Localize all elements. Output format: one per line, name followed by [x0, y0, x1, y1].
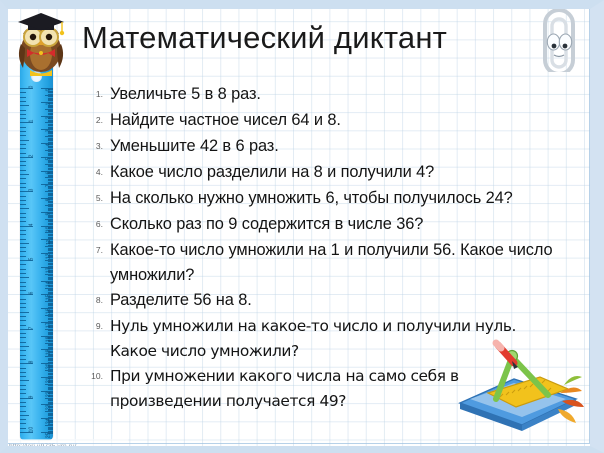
ruler-tick — [20, 290, 26, 291]
ruler-tick — [20, 200, 26, 201]
ruler-tick — [20, 368, 26, 369]
ruler-inch-label: 7 — [30, 326, 35, 329]
ruler-tick — [20, 251, 26, 252]
ruler-tick — [20, 204, 26, 205]
ruler-tick — [20, 247, 26, 248]
ruler-cm-label: 5 — [47, 157, 52, 160]
ruler-tick — [20, 217, 26, 218]
ruler-cm-label: 17 — [47, 322, 52, 328]
ruler-tick — [20, 294, 33, 295]
ruler-tick — [20, 97, 26, 98]
ruler-tick — [20, 385, 26, 386]
ruler-tick — [20, 355, 26, 356]
ruler-cm-label: 22 — [47, 391, 52, 397]
ruler-cm-label: 7 — [47, 185, 52, 188]
school-supplies-icon — [448, 337, 588, 441]
ruler-inch-label: 9 — [30, 395, 35, 398]
ruler-cm-label: 11 — [47, 240, 52, 245]
ruler-tick — [20, 165, 26, 166]
ruler-cm-label: 25 — [47, 433, 52, 439]
list-item: 2. Найдите частное чисел 64 и 8. — [84, 108, 554, 133]
ruler-tick — [20, 92, 26, 93]
list-item-text: Какое число разделили на 8 и получили 4? — [110, 160, 554, 185]
list-item: 3. Уменьшите 42 в 6 раз. — [84, 134, 554, 159]
ruler-inch-label: 8 — [30, 361, 35, 364]
list-item-text: Найдите частное чисел 64 и 8. — [110, 108, 554, 133]
ruler-tick — [20, 428, 26, 429]
list-item-number: 3. — [84, 134, 110, 159]
ruler-tick — [20, 153, 26, 154]
ruler-tick — [20, 122, 33, 123]
ruler-tick — [20, 303, 26, 304]
ruler-inch-label: 5 — [30, 258, 35, 261]
ruler-tick — [20, 105, 29, 106]
ruler-cm-label: 8 — [47, 199, 52, 202]
ruler-tick — [20, 380, 29, 381]
ruler-tick — [20, 393, 26, 394]
list-item-number: 1. — [84, 82, 110, 107]
ruler-cm-label: 21 — [47, 377, 52, 383]
ruler-tick — [20, 118, 26, 119]
ruler-tick — [20, 183, 26, 184]
ruler-tick — [20, 178, 26, 179]
ruler-tick — [20, 239, 26, 240]
ruler-graphic: 0123456789100123456789101112131415161718… — [20, 62, 53, 440]
paperclip-character-icon — [536, 6, 582, 72]
ruler-tick — [20, 277, 29, 278]
list-item: 7. Какое-то число умножили на 1 и получи… — [84, 238, 554, 287]
ruler-tick — [20, 256, 26, 257]
ruler-tick — [20, 131, 26, 132]
ruler-cm-label: 4 — [47, 144, 52, 147]
list-item-text: Разделите 56 на 8. — [110, 288, 554, 313]
ruler-tick — [20, 114, 26, 115]
ruler-tick — [20, 307, 26, 308]
list-item-text: Сколько раз по 9 содержится в числе 36? — [110, 212, 554, 237]
ruler-tick — [20, 376, 26, 377]
list-item-text: Уменьшите 42 в 6 раз. — [110, 134, 554, 159]
ruler-cm-label: 3 — [47, 130, 52, 133]
ruler-tick — [20, 196, 26, 197]
ruler-inch-label: 10 — [30, 427, 35, 433]
ruler-cm-label: 9 — [47, 212, 52, 215]
ruler-tick — [20, 389, 26, 390]
ruler-tick — [20, 402, 26, 403]
list-item: 6. Сколько раз по 9 содержится в числе 3… — [84, 212, 554, 237]
ruler-tick — [20, 342, 26, 343]
list-item-text: Какое-то число умножили на 1 и получили … — [110, 238, 554, 287]
ruler-tick — [20, 333, 26, 334]
ruler-tick — [20, 282, 26, 283]
ruler-tick — [20, 411, 26, 412]
ruler-tick — [20, 337, 26, 338]
list-item-number: 9. — [84, 314, 110, 339]
ruler-cm-label: 2 — [47, 116, 52, 119]
ruler-tick — [20, 148, 26, 149]
ruler-cm-label: 10 — [47, 226, 52, 232]
ruler-tick — [20, 359, 26, 360]
ruler-inch-label: 0 — [30, 86, 35, 89]
list-item-number: 2. — [84, 108, 110, 133]
list-item: 4. Какое число разделили на 8 и получили… — [84, 160, 554, 185]
ruler-tick — [20, 299, 26, 300]
ruler-tick — [20, 135, 26, 136]
ruler-tick — [20, 286, 26, 287]
list-item-number: 4. — [84, 160, 110, 185]
ruler-tick — [20, 144, 26, 145]
ruler-tick — [20, 423, 26, 424]
ruler-inch-label: 4 — [30, 223, 35, 226]
ruler-cm-label: 20 — [47, 364, 52, 370]
ruler-tick — [20, 346, 29, 347]
slide: Математический диктант 1. Увеличьте 5 в … — [0, 0, 604, 453]
ruler-tick — [20, 350, 26, 351]
ruler-cm-label: 24 — [47, 419, 52, 425]
ruler-tick — [20, 419, 26, 420]
ruler-cm-label: 16 — [47, 309, 52, 315]
ruler-cm-label: 18 — [47, 336, 52, 342]
ruler-inch-label: 3 — [30, 189, 35, 192]
ruler-tick — [20, 140, 29, 141]
ruler-tick — [20, 110, 26, 111]
ruler-cm-label: 23 — [47, 405, 52, 411]
ruler-tick — [20, 161, 26, 162]
ruler-tick — [20, 208, 29, 209]
ruler-cm-label: 19 — [47, 350, 52, 356]
ruler-tick — [20, 273, 26, 274]
ruler-tick — [20, 213, 26, 214]
ruler-tick — [20, 325, 26, 326]
owl-graduate-icon — [10, 4, 72, 76]
list-item-number: 8. — [84, 288, 110, 313]
ruler-tick — [20, 269, 26, 270]
ruler-inch-label: 1 — [30, 120, 35, 123]
ruler-cm-label: 13 — [47, 267, 52, 273]
ruler-tick — [20, 101, 26, 102]
ruler-tick — [20, 170, 26, 171]
ruler-tick — [20, 406, 26, 407]
list-item: 5. На сколько нужно умножить 6, чтобы по… — [84, 186, 554, 211]
ruler-tick — [20, 264, 26, 265]
ruler-tick — [20, 221, 26, 222]
ruler-cm-label: 12 — [47, 254, 52, 260]
list-item: 1. Увеличьте 5 в 8 раз. — [84, 82, 554, 107]
ruler-tick — [20, 415, 29, 416]
ruler-inch-label: 6 — [30, 292, 35, 295]
ruler-cm-label: 15 — [47, 295, 52, 301]
ruler-tick — [20, 316, 26, 317]
watermark-url[interactable]: http://lori.u9735.vrn.ru/ — [9, 443, 77, 450]
ruler-tick — [20, 174, 29, 175]
ruler-tick — [20, 320, 26, 321]
list-item-text: Увеличьте 5 в 8 раз. — [110, 82, 554, 107]
ruler-inch-label: 2 — [30, 154, 35, 157]
list-item: 8. Разделите 56 на 8. — [84, 288, 554, 313]
ruler-tick — [20, 230, 26, 231]
ruler-cm-label: 1 — [47, 102, 52, 105]
ruler-tick — [20, 127, 26, 128]
ruler-tick — [20, 312, 29, 313]
ruler-tick — [20, 234, 26, 235]
list-item-number: 10. — [84, 364, 110, 389]
page-title: Математический диктант — [82, 20, 512, 56]
ruler-cm-label: 6 — [47, 171, 52, 174]
ruler-tick — [20, 187, 26, 188]
ruler-tick — [20, 372, 26, 373]
list-item-number: 5. — [84, 186, 110, 211]
list-item-number: 7. — [84, 238, 110, 263]
ruler-cm-label: 14 — [47, 281, 52, 287]
list-item-number: 6. — [84, 212, 110, 237]
list-item-text: На сколько нужно умножить 6, чтобы получ… — [110, 186, 554, 211]
ruler-tick — [20, 243, 29, 244]
ruler-cm-label: 0 — [47, 89, 52, 92]
